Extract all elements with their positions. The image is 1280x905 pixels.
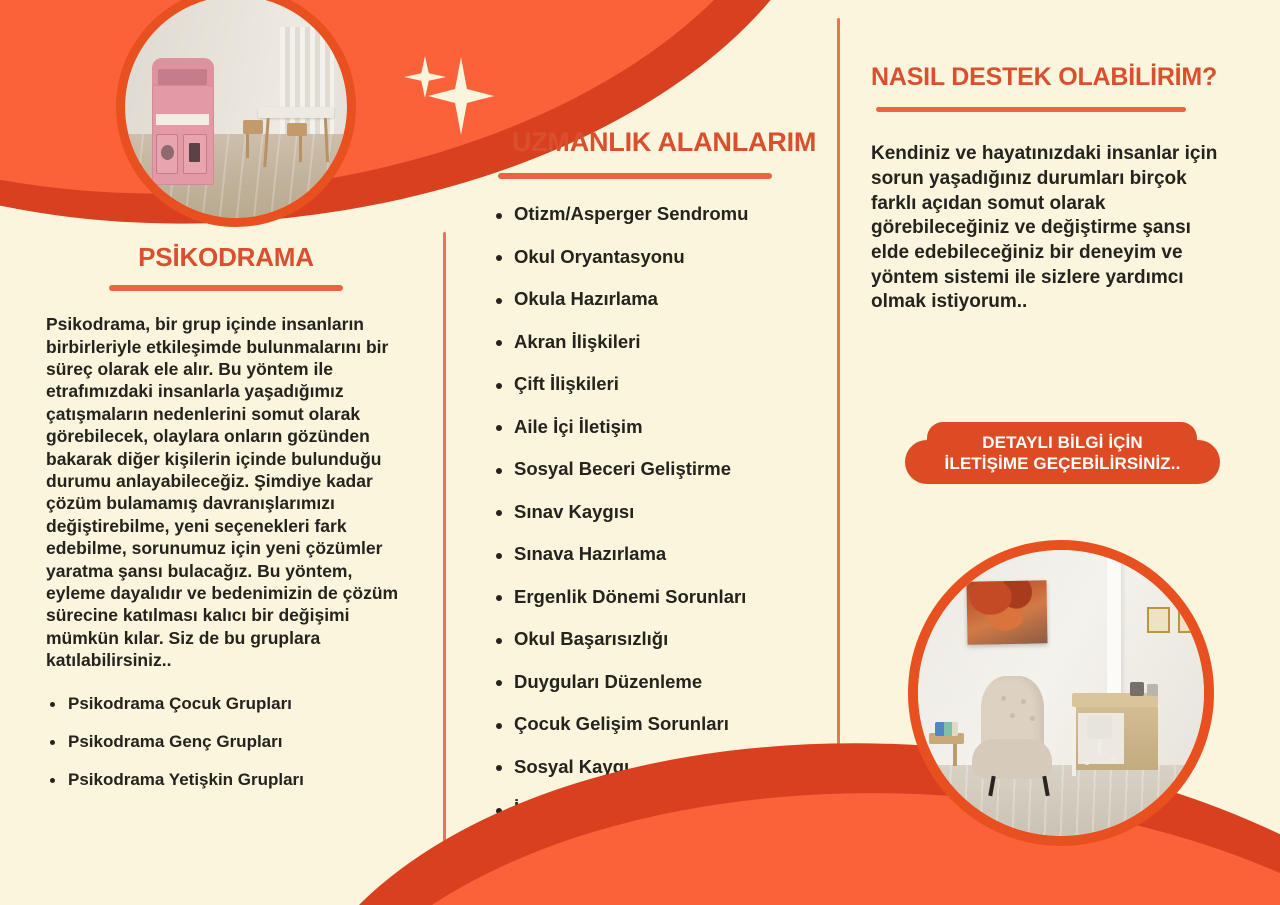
list-item: Çocuk Gelişim Sorunları xyxy=(490,713,840,735)
list-item: Sosyal Beceri Geliştirme xyxy=(490,458,840,480)
playroom-table xyxy=(258,107,333,118)
playroom-photo xyxy=(116,0,356,227)
cta-line-2: İLETİŞİME GEÇEBİLİRSİNİZ.. xyxy=(945,454,1181,474)
office-wall-art xyxy=(966,581,1047,645)
office-chair-wheel xyxy=(1110,756,1116,762)
toy-kitchen-shelf xyxy=(158,69,207,85)
list-item: Psikodrama Yetişkin Grupları xyxy=(46,770,406,790)
psikodrama-section: PSİKODRAMA Psikodrama, bir grup içinde i… xyxy=(46,244,406,808)
list-item: Psikodrama Çocuk Grupları xyxy=(46,694,406,714)
list-item: Okula Hazırlama xyxy=(490,288,840,310)
playroom-photo-inner xyxy=(125,0,347,218)
nasil-destek-paragraph: Kendiniz ve hayatınızdaki insanlar için … xyxy=(871,142,1231,315)
list-item: Sınava Hazırlama xyxy=(490,543,840,565)
office-rolling-chair xyxy=(1087,716,1113,739)
therapy-office-photo-inner xyxy=(918,550,1204,836)
playroom-chair xyxy=(243,120,263,133)
office-pen-holder xyxy=(1130,682,1144,696)
list-item: Okul Oryantasyonu xyxy=(490,246,840,268)
office-desk-top xyxy=(1072,693,1158,707)
list-item: Akran İlişkileri xyxy=(490,331,840,353)
armchair-tuft xyxy=(1030,716,1035,721)
uzmanlik-heading-rule xyxy=(498,173,772,179)
therapy-office-photo xyxy=(908,540,1214,846)
list-item: Psikodrama Genç Grupları xyxy=(46,732,406,752)
toy-oven-window xyxy=(189,143,200,163)
list-item: Okul Başarısızlığı xyxy=(490,628,840,650)
list-item: Otizm/Asperger Sendromu xyxy=(490,203,840,225)
list-item: Ergenlik Dönemi Sorunları xyxy=(490,586,840,608)
psikodrama-heading-rule xyxy=(109,285,343,291)
uzmanlik-heading: UZMANLIK ALANLARIM xyxy=(470,128,840,156)
brochure-page: PSİKODRAMA Psikodrama, bir grup içinde i… xyxy=(0,0,1280,905)
office-desk-leg xyxy=(1072,707,1076,776)
office-cup xyxy=(1147,684,1158,695)
nasil-destek-heading-rule xyxy=(876,107,1186,112)
psikodrama-heading: PSİKODRAMA xyxy=(46,244,406,271)
playroom-chair xyxy=(287,123,307,136)
office-floor xyxy=(918,765,1204,837)
cta-label: DETAYLI BİLGİ İÇİN İLETİŞİME GEÇEBİLİRSİ… xyxy=(905,422,1220,484)
armchair-seat xyxy=(972,739,1052,779)
list-item: Sınav Kaygısı xyxy=(490,501,840,523)
list-item: Duyguları Düzenleme xyxy=(490,671,840,693)
armchair-tuft xyxy=(1001,696,1006,701)
psikodrama-group-list: Psikodrama Çocuk Grupları Psikodrama Gen… xyxy=(46,694,406,790)
list-item: Çift İlişkileri xyxy=(490,373,840,395)
office-certificate-frame xyxy=(1178,610,1192,633)
nasil-destek-section: NASIL DESTEK OLABİLİRİM? Kendiniz ve hay… xyxy=(871,64,1231,315)
toy-kitchen-stovetop xyxy=(156,114,209,125)
nasil-destek-heading: NASIL DESTEK OLABİLİRİM? xyxy=(871,64,1231,90)
psikodrama-paragraph: Psikodrama, bir grup içinde insanların b… xyxy=(46,313,406,671)
toy-washer-window xyxy=(161,145,174,161)
contact-cta-button[interactable]: DETAYLI BİLGİ İÇİN İLETİŞİME GEÇEBİLİRSİ… xyxy=(905,422,1220,484)
cta-line-1: DETAYLI BİLGİ İÇİN xyxy=(982,433,1142,453)
office-chair-wheel xyxy=(1084,759,1090,765)
column-divider-left xyxy=(443,232,446,864)
office-toys xyxy=(935,722,958,736)
armchair-tuft xyxy=(1010,713,1015,718)
office-certificate-frame xyxy=(1147,607,1170,633)
armchair-tuft xyxy=(1021,699,1026,704)
list-item: Aile İçi İletişim xyxy=(490,416,840,438)
